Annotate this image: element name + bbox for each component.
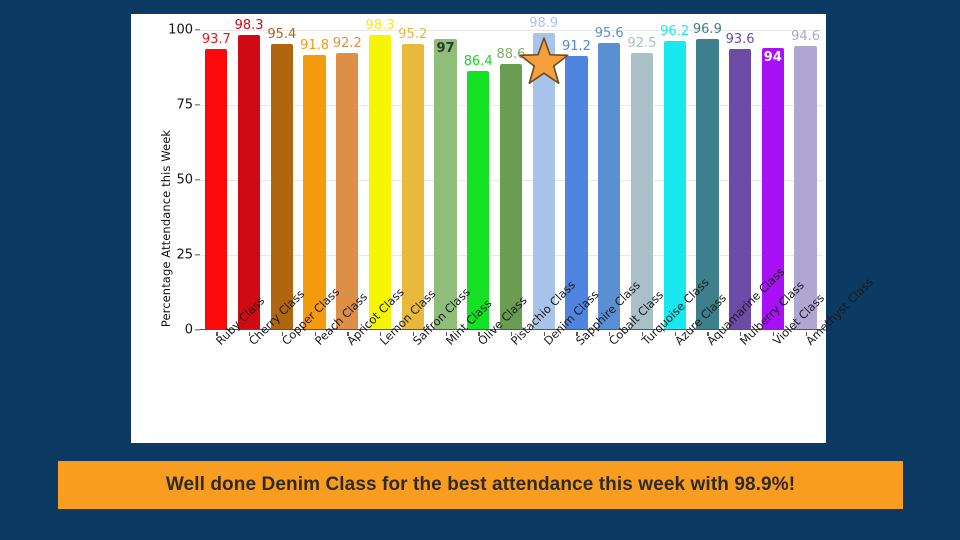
y-tick-label: 50 bbox=[176, 173, 193, 188]
bar[interactable]: 95.4 bbox=[271, 44, 293, 330]
bar-value-label: 91.2 bbox=[562, 39, 591, 54]
y-tick-label: 75 bbox=[176, 98, 193, 113]
bar-value-label: 98.3 bbox=[235, 18, 264, 33]
bar[interactable]: 96.2 bbox=[664, 41, 686, 330]
bar-slot: 91.8 bbox=[298, 30, 331, 330]
bar-value-label: 92.2 bbox=[333, 36, 362, 51]
y-tick-label: 25 bbox=[176, 248, 193, 263]
bar[interactable]: 98.9 bbox=[533, 33, 555, 330]
x-label-slot: Sapphire Class bbox=[560, 332, 593, 442]
bar[interactable]: 93.7 bbox=[205, 49, 227, 330]
bar-value-label: 88.6 bbox=[496, 47, 525, 62]
bar[interactable]: 92.2 bbox=[336, 53, 358, 330]
bar[interactable]: 98.3 bbox=[369, 35, 391, 330]
x-axis-labels: Ruby ClassCherry ClassCopper ClassPeach … bbox=[200, 332, 822, 442]
x-label-slot: Aquamarine Class bbox=[691, 332, 724, 442]
bar-slot: 88.6 bbox=[495, 30, 528, 330]
bar-slot: 97 bbox=[429, 30, 462, 330]
bar-value-label: 95.4 bbox=[267, 27, 296, 42]
bar-slot: 98.9 bbox=[527, 30, 560, 330]
bar-value-label: 93.6 bbox=[726, 32, 755, 47]
caption-text: Well done Denim Class for the best atten… bbox=[166, 474, 795, 496]
x-label-slot: Lemon Class bbox=[364, 332, 397, 442]
bar[interactable]: 88.6 bbox=[500, 64, 522, 330]
bar-value-label: 91.8 bbox=[300, 38, 329, 53]
bar-slot: 93.7 bbox=[200, 30, 233, 330]
bar-value-label: 92.5 bbox=[627, 36, 656, 51]
bar[interactable]: 98.3 bbox=[238, 35, 260, 330]
bar[interactable]: 91.8 bbox=[303, 55, 325, 330]
bar-slot: 92.2 bbox=[331, 30, 364, 330]
bar-slot: 98.3 bbox=[364, 30, 397, 330]
plot-area: 0255075100 93.798.395.491.892.298.395.29… bbox=[200, 30, 822, 330]
x-label-slot: Amethyst Class bbox=[789, 332, 822, 442]
bar-value-label: 93.7 bbox=[202, 32, 231, 47]
x-label-slot: Olive Class bbox=[462, 332, 495, 442]
bar-value-label: 98.3 bbox=[366, 18, 395, 33]
x-label-slot: Ruby Class bbox=[200, 332, 233, 442]
x-label-slot: Turquoise Class bbox=[626, 332, 659, 442]
bar-slot: 95.4 bbox=[265, 30, 298, 330]
x-label-slot: Cherry Class bbox=[233, 332, 266, 442]
x-label-slot: Cobalt Class bbox=[593, 332, 626, 442]
caption-banner: Well done Denim Class for the best atten… bbox=[58, 461, 903, 509]
slide-background: Percentage Attendance this Week 02550751… bbox=[0, 0, 960, 540]
x-label-slot: Mint Class bbox=[429, 332, 462, 442]
x-label-slot: Copper Class bbox=[265, 332, 298, 442]
bar[interactable]: 97 bbox=[434, 39, 456, 330]
y-tick-label: 100 bbox=[168, 23, 193, 38]
x-label-slot: Denim Class bbox=[527, 332, 560, 442]
bar-slot: 93.6 bbox=[724, 30, 757, 330]
bar-value-label: 96.2 bbox=[660, 24, 689, 39]
x-label-slot: Peach Class bbox=[298, 332, 331, 442]
bar[interactable]: 93.6 bbox=[729, 49, 751, 330]
bar-value-label: 94 bbox=[764, 50, 782, 65]
bar-slot: 95.6 bbox=[593, 30, 626, 330]
bar-value-label: 95.6 bbox=[595, 26, 624, 41]
bar-slot: 95.2 bbox=[396, 30, 429, 330]
x-label-slot: Azure Class bbox=[658, 332, 691, 442]
bar[interactable]: 86.4 bbox=[467, 71, 489, 330]
bar-slot: 98.3 bbox=[233, 30, 266, 330]
bar-slot: 86.4 bbox=[462, 30, 495, 330]
bar[interactable]: 95.6 bbox=[598, 43, 620, 330]
y-axis-title: Percentage Attendance this Week bbox=[155, 14, 177, 443]
x-label-slot: Violet Class bbox=[756, 332, 789, 442]
y-tick-label: 0 bbox=[185, 323, 193, 338]
bar[interactable]: 95.2 bbox=[402, 44, 424, 330]
bar-value-label: 97 bbox=[436, 41, 454, 56]
chart-panel: Percentage Attendance this Week 02550751… bbox=[131, 14, 826, 443]
bar-value-label: 94.6 bbox=[791, 29, 820, 44]
x-label-slot: Mulberry Class bbox=[724, 332, 757, 442]
bar-value-label: 98.9 bbox=[529, 16, 558, 31]
bar-value-label: 86.4 bbox=[464, 54, 493, 69]
bar-value-label: 96.9 bbox=[693, 22, 722, 37]
x-label-slot: Pistachio Class bbox=[495, 332, 528, 442]
x-label-slot: Saffron Class bbox=[396, 332, 429, 442]
bar-series: 93.798.395.491.892.298.395.29786.488.698… bbox=[200, 30, 822, 330]
x-label-slot: Apricot Class bbox=[331, 332, 364, 442]
bar-value-label: 95.2 bbox=[398, 27, 427, 42]
bar-slot: 96.2 bbox=[658, 30, 691, 330]
